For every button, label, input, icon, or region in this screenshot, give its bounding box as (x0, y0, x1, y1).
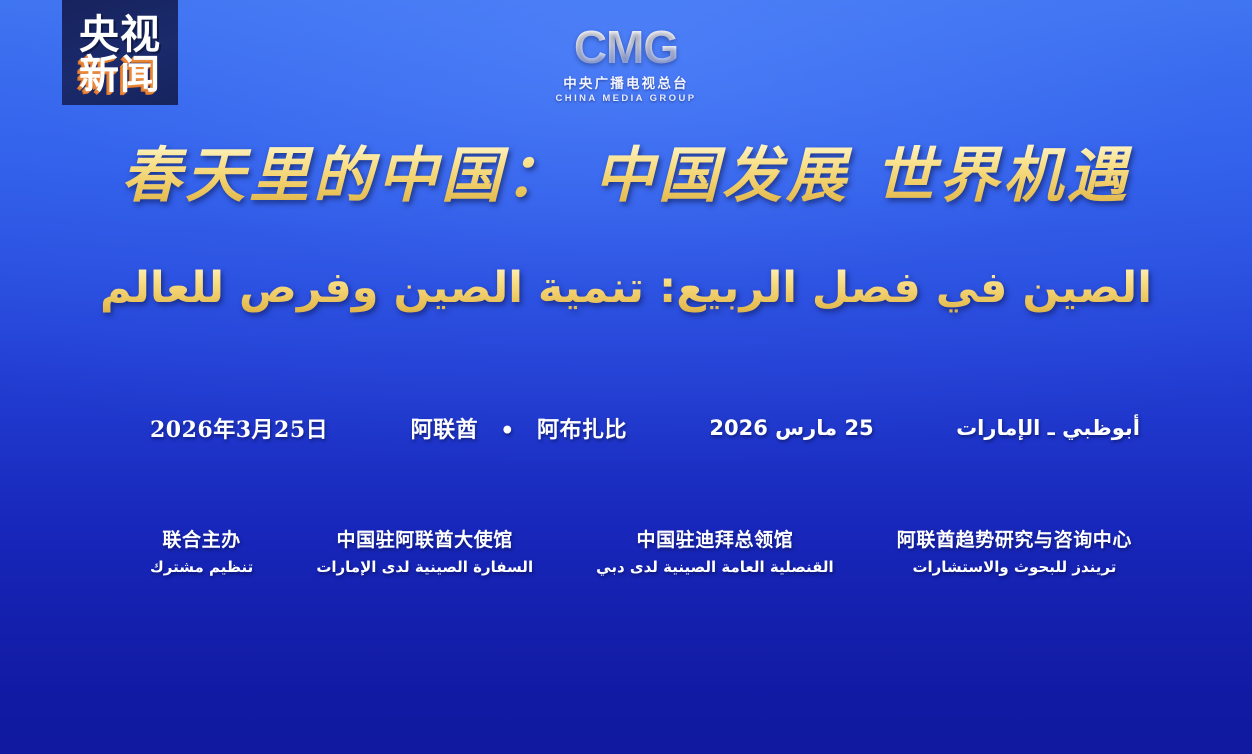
event-location-chinese: 阿联酋 • 阿布扎比 (411, 412, 627, 444)
organizer-name-arabic: تنظيم مشترك (150, 557, 253, 578)
organizer-item: 中国驻阿联酋大使馆 السفارة الصينية لدى الإمارات (316, 528, 533, 578)
organizer-item: 联合主办 تنظيم مشترك (150, 528, 253, 578)
main-title-arabic: الصين في فصل الربيع: تنمية الصين وفرص لل… (0, 262, 1252, 316)
organizer-name-chinese: 阿联酋趋势研究与咨询中心 (897, 528, 1132, 554)
cmg-chinese-name: 中央广播电视总台 (563, 72, 689, 92)
organizer-item: 阿联酋趋势研究与咨询中心 تريندز للبحوث والاستشارات (897, 528, 1132, 578)
organizer-name-arabic: السفارة الصينية لدى الإمارات (316, 557, 533, 578)
meta-separator-dot: • (500, 418, 515, 444)
event-location-country-chinese: 阿联酋 (411, 417, 479, 443)
cmg-english-name: CHINA MEDIA GROUP (556, 93, 697, 104)
event-location-city-chinese: 阿布扎比 (537, 417, 627, 443)
organizer-name-arabic: تريندز للبحوث والاستشارات (912, 557, 1116, 578)
event-title-card: 央视 新闻 CMG 中央广播电视总台 CHINA MEDIA GROUP 春天里… (0, 0, 1252, 754)
cmg-wordmark: CMG (574, 24, 678, 70)
organizer-name-chinese: 中国驻阿联酋大使馆 (337, 528, 513, 554)
event-date-arabic: 25 مارس 2026 (709, 416, 873, 440)
cmg-logo: CMG 中央广播电视总台 CHINA MEDIA GROUP (0, 24, 1252, 104)
organizer-name-chinese: 中国驻迪拜总领馆 (637, 528, 794, 554)
event-meta-row: 2026年3月25日 阿联酋 • 阿布扎比 25 مارس 2026 أبوظب… (150, 412, 1140, 444)
event-date-chinese: 2026年3月25日 (150, 412, 328, 444)
organizer-name-arabic: القنصلية العامة الصينية لدى دبي (596, 557, 834, 578)
event-location-arabic: أبوظبي ـ الإمارات (956, 416, 1140, 440)
organizer-name-chinese: 联合主办 (162, 528, 240, 554)
organizer-item: 中国驻迪拜总领馆 القنصلية العامة الصينية لدى دبي (596, 528, 834, 578)
main-title-chinese: 春天里的中国： 中国发展 世界机遇 (0, 142, 1252, 211)
organizers-row: 联合主办 تنظيم مشترك 中国驻阿联酋大使馆 السفارة الصين… (150, 528, 1132, 578)
